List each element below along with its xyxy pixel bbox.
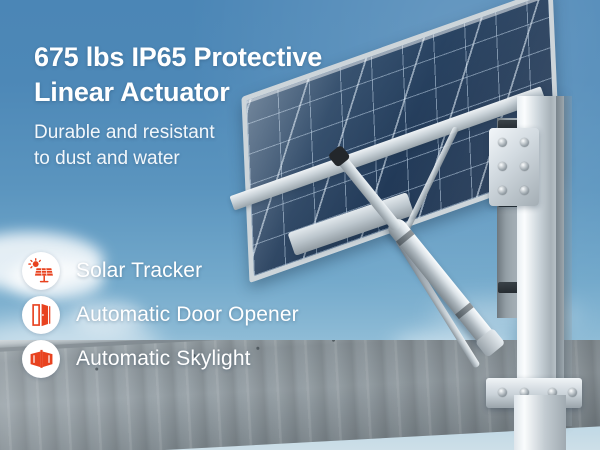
actuator-band xyxy=(455,303,474,320)
bolt xyxy=(498,138,507,147)
feature-label: Solar Tracker xyxy=(76,259,202,283)
skylight-icon xyxy=(22,340,60,378)
page-title: 675 lbs IP65 Protective Linear Actuator xyxy=(34,40,374,109)
bolt xyxy=(520,186,529,195)
subheading: Durable and resistant to dust and water xyxy=(34,120,294,171)
bolt xyxy=(498,186,507,195)
pole-lower-section xyxy=(514,395,566,450)
feature-item-solar-tracker[interactable]: Solar Tracker xyxy=(22,249,352,292)
actuator-mount-end xyxy=(475,328,505,358)
feature-label: Automatic Skylight xyxy=(76,347,251,371)
feature-item-door-opener[interactable]: Automatic Door Opener xyxy=(22,293,352,336)
feature-item-skylight[interactable]: Automatic Skylight xyxy=(22,337,352,380)
headline-line-2: Linear Actuator xyxy=(34,75,374,110)
panel-mount-bracket xyxy=(489,128,539,206)
bolt xyxy=(520,162,529,171)
door-opener-icon xyxy=(22,296,60,334)
feature-label: Automatic Door Opener xyxy=(76,303,299,327)
bolt xyxy=(568,388,577,397)
bolt xyxy=(498,162,507,171)
subheading-line-2: to dust and water xyxy=(34,146,294,172)
bolt xyxy=(520,138,529,147)
pole-shadow-face xyxy=(556,96,572,426)
headline-line-1: 675 lbs IP65 Protective xyxy=(34,40,374,75)
feature-list: Solar Tracker Automatic Door Opener xyxy=(22,249,352,381)
actuator-band xyxy=(396,230,415,247)
product-banner: 675 lbs IP65 Protective Linear Actuator … xyxy=(0,0,600,450)
subheading-line-1: Durable and resistant xyxy=(34,120,294,146)
bolt xyxy=(498,388,507,397)
solar-tracker-icon xyxy=(22,252,60,290)
linear-actuator xyxy=(385,216,500,352)
